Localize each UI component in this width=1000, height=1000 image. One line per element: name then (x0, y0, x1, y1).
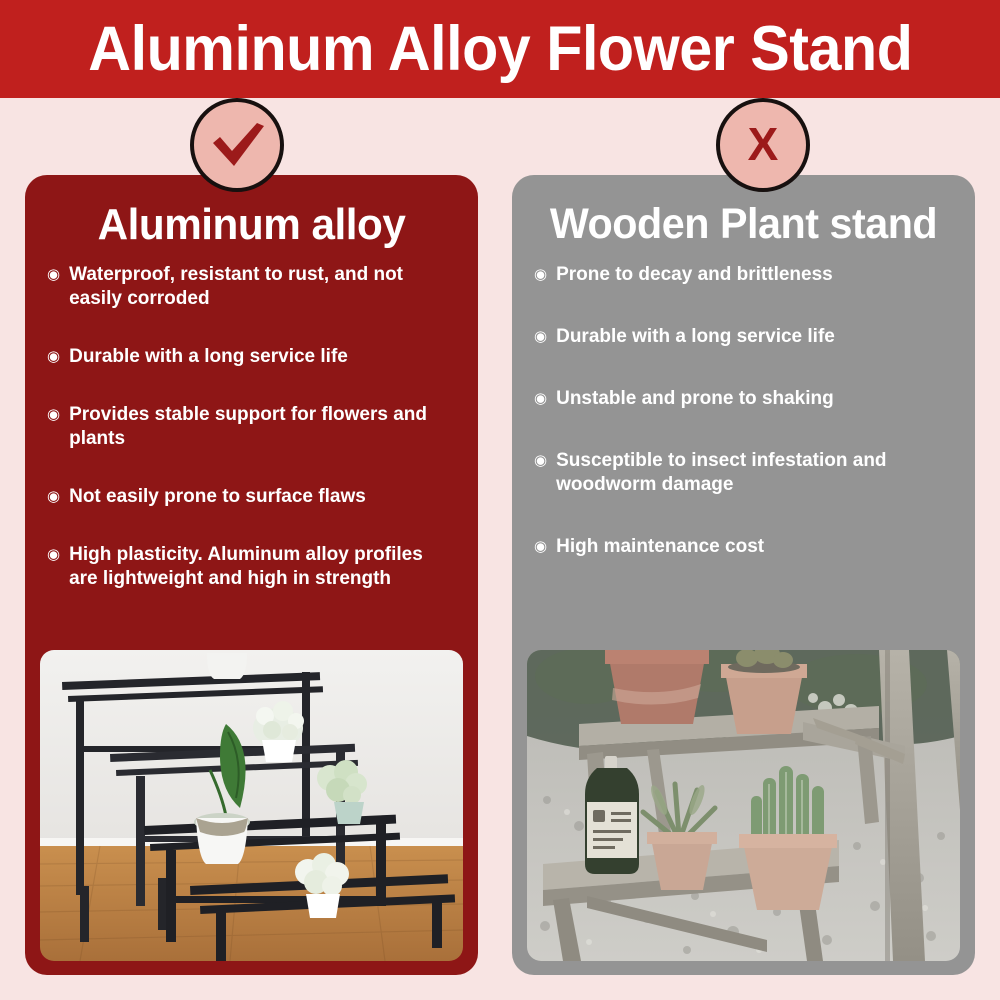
list-item: ◉ Waterproof, resistant to rust, and not… (47, 263, 452, 311)
header-banner: Aluminum Alloy Flower Stand (0, 0, 1000, 98)
cross-icon: X (748, 121, 779, 167)
aluminum-flower-stand-photo (40, 650, 463, 961)
panel-title-wooden: Wooden Plant stand (521, 203, 965, 246)
list-item: ◉ High maintenance cost (534, 535, 949, 559)
panel-aluminum-alloy: Aluminum alloy ◉ Waterproof, resistant t… (25, 175, 478, 975)
bullet-dot-icon: ◉ (47, 543, 60, 567)
bullet-dot-icon: ◉ (534, 535, 547, 559)
page-title: Aluminum Alloy Flower Stand (88, 18, 912, 81)
bullet-dot-icon: ◉ (47, 485, 60, 509)
bullet-dot-icon: ◉ (534, 325, 547, 349)
list-item: ◉ Prone to decay and brittleness (534, 263, 949, 287)
list-item: ◉ High plasticity. Aluminum alloy profil… (47, 543, 452, 591)
feature-list-wooden: ◉ Prone to decay and brittleness ◉ Durab… (512, 263, 975, 597)
bullet-dot-icon: ◉ (534, 263, 547, 287)
list-item: ◉ Unstable and prone to shaking (534, 387, 949, 411)
bullet-dot-icon: ◉ (47, 403, 60, 427)
feature-list-aluminum: ◉ Waterproof, resistant to rust, and not… (25, 263, 478, 625)
bullet-dot-icon: ◉ (534, 387, 547, 411)
bullet-dot-icon: ◉ (534, 449, 547, 473)
bullet-dot-icon: ◉ (47, 263, 60, 287)
check-icon (207, 121, 267, 169)
list-item: ◉ Durable with a long service life (534, 325, 949, 349)
panel-title-aluminum: Aluminum alloy (34, 203, 469, 247)
list-item: ◉ Not easily prone to surface flaws (47, 485, 452, 509)
list-item: ◉ Susceptible to insect infestation and … (534, 449, 949, 497)
check-badge (190, 98, 284, 192)
cross-badge: X (716, 98, 810, 192)
panel-wooden-plant-stand: Wooden Plant stand ◉ Prone to decay and … (512, 175, 975, 975)
list-item: ◉ Provides stable support for flowers an… (47, 403, 452, 451)
comparison-infographic: Aluminum Alloy Flower Stand Aluminum all… (0, 0, 1000, 1000)
bullet-dot-icon: ◉ (47, 345, 60, 369)
list-item: ◉ Durable with a long service life (47, 345, 452, 369)
wooden-plant-stand-photo (527, 650, 960, 961)
